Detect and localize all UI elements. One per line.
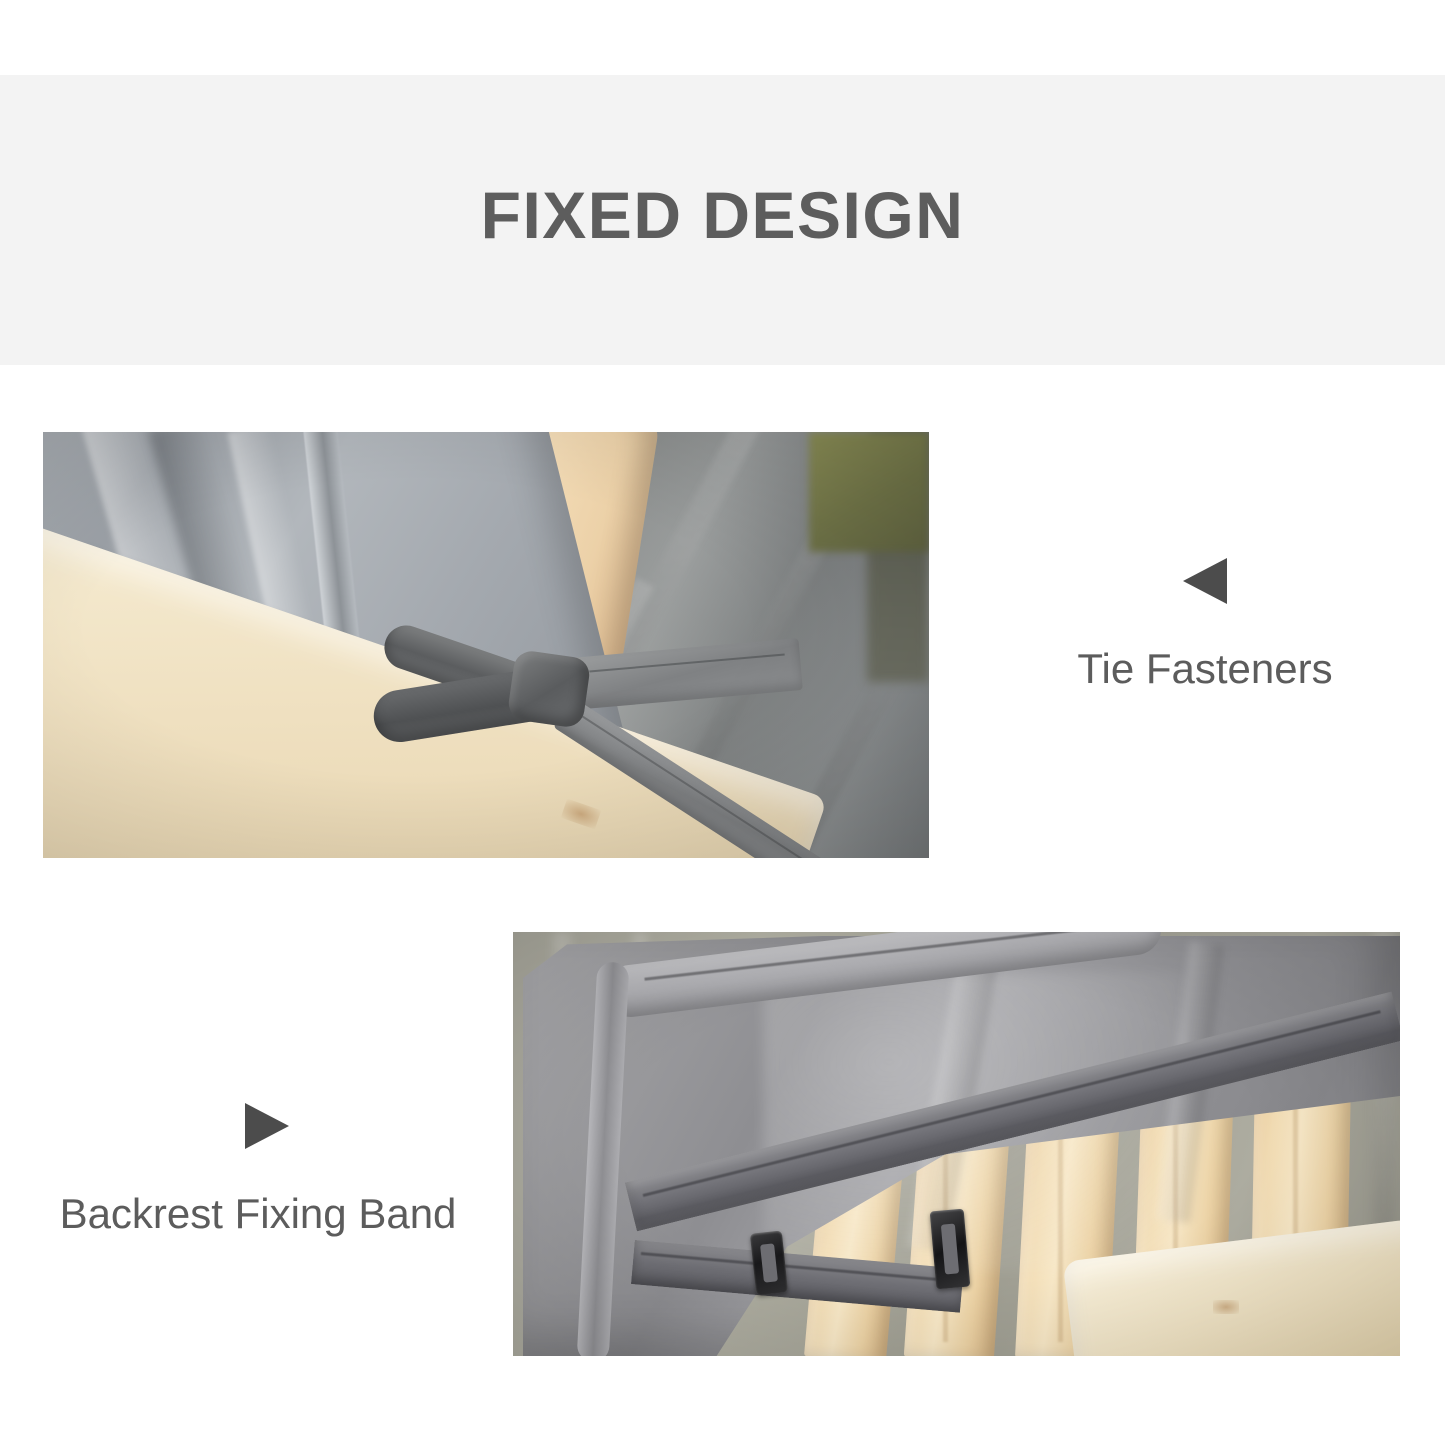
- photo-vignette: [43, 432, 929, 858]
- callout-label-tie-fasteners: Tie Fasteners: [1015, 648, 1395, 690]
- triangle-left-icon: [1183, 558, 1227, 604]
- marker-wrap: [1015, 558, 1395, 604]
- callout-backrest-fixing-band: Backrest Fixing Band: [38, 1103, 478, 1235]
- callout-tie-fasteners: Tie Fasteners: [1015, 558, 1395, 690]
- marker-wrap: [38, 1103, 478, 1149]
- infographic-page: FIXED DESIGN: [0, 0, 1445, 1445]
- photo-vignette: [513, 932, 1400, 1356]
- triangle-right-icon: [245, 1103, 289, 1149]
- photo-tie-fastener: [43, 432, 929, 858]
- page-title: FIXED DESIGN: [0, 182, 1445, 248]
- photo-backrest-band: [513, 932, 1400, 1356]
- callout-label-backrest-fixing-band: Backrest Fixing Band: [38, 1193, 478, 1235]
